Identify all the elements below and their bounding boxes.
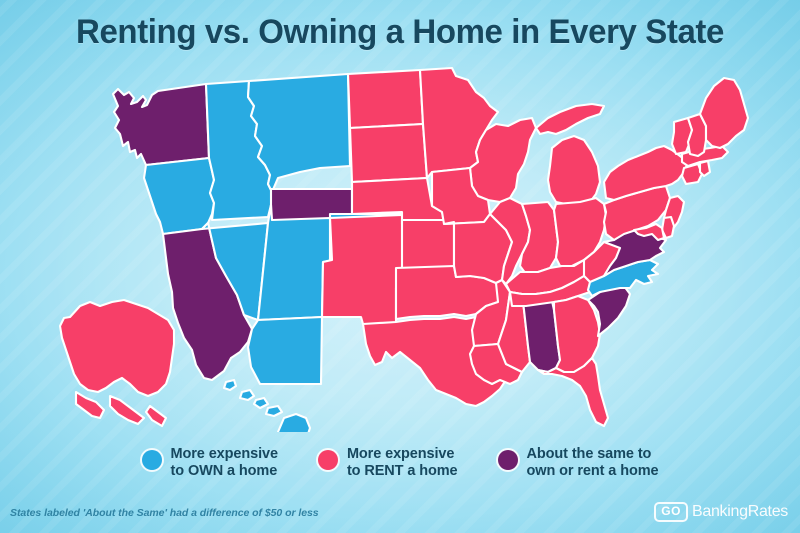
map-svg <box>0 62 800 432</box>
state-UT[interactable] <box>258 205 332 320</box>
logo-wordmark: BankingRates <box>692 503 788 521</box>
state-RI[interactable] <box>700 161 710 176</box>
legend-swatch-own-icon <box>142 450 162 470</box>
state-MI[interactable] <box>536 104 604 204</box>
legend-item-own[interactable]: More expensive to OWN a home <box>142 446 278 480</box>
page-title: Renting vs. Owning a Home in Every State <box>12 12 788 52</box>
logo-go-badge: GO <box>654 502 688 522</box>
state-AK[interactable] <box>60 300 174 426</box>
legend-item-rent[interactable]: More expensive to RENT a home <box>318 446 458 480</box>
state-AZ[interactable] <box>248 317 322 384</box>
state-ME[interactable] <box>700 78 748 148</box>
state-SD[interactable] <box>350 124 427 182</box>
state-HI[interactable] <box>224 380 310 432</box>
legend-swatch-rent-icon <box>318 450 338 470</box>
gobankingrates-logo[interactable]: GO BankingRates <box>654 502 788 522</box>
map-legend: More expensive to OWN a home More expens… <box>0 446 800 492</box>
legend-swatch-same-icon <box>498 450 518 470</box>
legend-label-rent: More expensive to RENT a home <box>347 446 458 480</box>
us-choropleth-map <box>0 62 800 432</box>
legend-label-own: More expensive to OWN a home <box>171 446 278 480</box>
infographic-canvas: Renting vs. Owning a Home in Every State <box>0 0 800 533</box>
state-KS[interactable] <box>402 220 454 268</box>
legend-item-same[interactable]: About the same to own or rent a home <box>498 446 659 480</box>
footnote-text: States labeled 'About the Same' had a di… <box>10 507 319 519</box>
state-WA[interactable] <box>113 84 209 165</box>
state-NM[interactable] <box>322 215 404 324</box>
state-OR[interactable] <box>144 158 214 234</box>
legend-label-same: About the same to own or rent a home <box>527 446 659 480</box>
state-ND[interactable] <box>348 70 423 128</box>
